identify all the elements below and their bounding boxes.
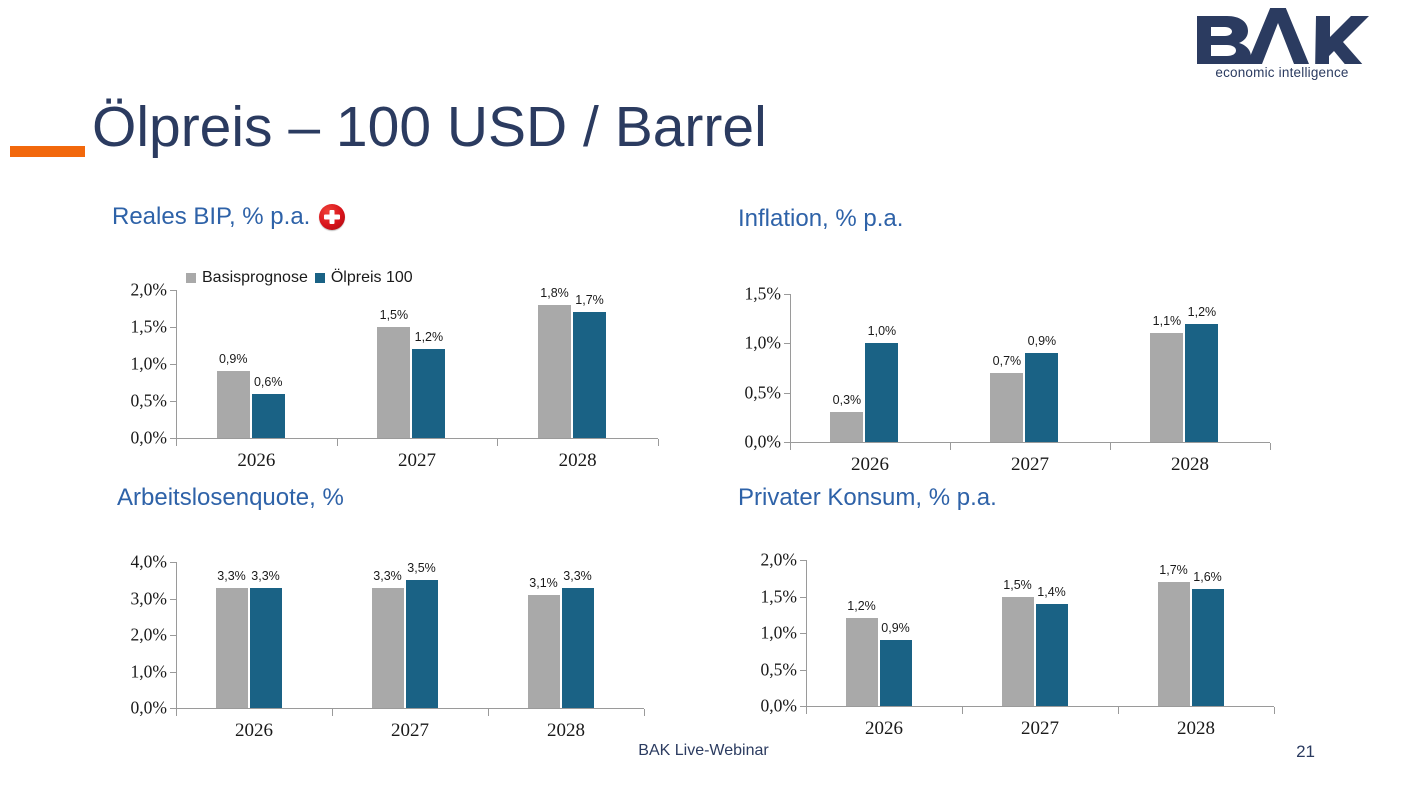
x-axis-category-label: 2028 (1171, 454, 1209, 476)
y-axis-tick (170, 401, 176, 402)
bar-value-label: 3,3% (373, 569, 402, 583)
bar-value-label: 0,9% (1028, 334, 1057, 348)
bar-inflation-2027-basisprognose (990, 373, 1023, 442)
bar-inflation-2028-basisprognose (1150, 333, 1183, 442)
x-axis-category-separator (644, 709, 645, 716)
y-axis-line (806, 560, 807, 706)
y-axis-tick (170, 562, 176, 563)
y-axis-tick-label: 0,5% (745, 382, 781, 403)
y-axis-tick-label: 3,0% (131, 588, 167, 609)
bar-value-label: 0,9% (881, 621, 910, 635)
y-axis-tick (784, 294, 790, 295)
y-axis-line (790, 294, 791, 442)
bar-value-label: 1,2% (847, 599, 876, 613)
bar-value-label: 1,2% (415, 330, 444, 344)
y-axis-tick (800, 560, 806, 561)
y-axis-tick (800, 597, 806, 598)
x-axis-category-separator (962, 707, 963, 714)
y-axis-tick (170, 364, 176, 365)
bar-consumption-2028-oelpreis100 (1192, 589, 1224, 706)
title-accent-dash (10, 146, 85, 157)
y-axis-tick-label: 2,0% (131, 625, 167, 646)
panel-heading-unemployment-label: Arbeitslosenquote, % (117, 484, 344, 512)
bar-gdp-2027-oelpreis100 (412, 349, 445, 438)
x-axis-category-label: 2026 (865, 718, 903, 740)
bar-value-label: 3,3% (563, 569, 592, 583)
legend-swatch-oelpreis100 (315, 273, 325, 283)
chart-legend: BasisprognoseÖlpreis 100 (186, 269, 413, 287)
x-axis-category-separator (332, 709, 333, 716)
legend-item-oelpreis100: Ölpreis 100 (315, 269, 413, 287)
x-axis-category-label: 2028 (547, 720, 585, 742)
y-axis-tick-label: 2,0% (761, 550, 797, 571)
y-axis-tick (170, 599, 176, 600)
bar-value-label: 3,5% (407, 561, 436, 575)
y-axis-tick (170, 327, 176, 328)
x-axis-category-label: 2027 (391, 720, 429, 742)
bar-value-label: 1,1% (1153, 314, 1182, 328)
y-axis-tick-label: 0,0% (131, 698, 167, 719)
x-axis-line (176, 708, 644, 709)
y-axis-tick-label: 0,0% (745, 432, 781, 453)
panel-heading-gdp-label: Reales BIP, % p.a. (112, 203, 310, 231)
bar-consumption-2028-basisprognose (1158, 582, 1190, 706)
y-axis-tick (800, 633, 806, 634)
bar-value-label: 0,9% (219, 352, 248, 366)
x-axis-category-separator (1270, 443, 1271, 450)
y-axis-tick (170, 672, 176, 673)
panel-heading-inflation-label: Inflation, % p.a. (738, 205, 903, 233)
bar-inflation-2026-basisprognose (830, 412, 863, 442)
bar-value-label: 1,2% (1188, 305, 1217, 319)
x-axis-category-separator (176, 439, 177, 446)
x-axis-category-separator (658, 439, 659, 446)
y-axis-tick-label: 0,0% (131, 428, 167, 449)
bar-consumption-2026-oelpreis100 (880, 640, 912, 706)
bar-value-label: 1,7% (575, 293, 604, 307)
y-axis-tick-label: 4,0% (131, 552, 167, 573)
y-axis-tick (784, 393, 790, 394)
y-axis-tick (784, 343, 790, 344)
x-axis-category-separator (1110, 443, 1111, 450)
x-axis-category-separator (488, 709, 489, 716)
bak-wordmark-icon (1193, 8, 1371, 64)
chart-reales-bip: 0,0%0,5%1,0%1,5%2,0%0,9%0,6%20261,5%1,2%… (176, 290, 658, 438)
x-axis-category-separator (806, 707, 807, 714)
page-title: Ölpreis – 100 USD / Barrel (92, 98, 767, 158)
x-axis-category-separator (497, 439, 498, 446)
x-axis-category-label: 2026 (237, 450, 275, 472)
bar-value-label: 1,5% (1003, 578, 1032, 592)
bar-value-label: 3,1% (529, 576, 558, 590)
x-axis-line (790, 442, 1270, 443)
bar-value-label: 1,4% (1037, 585, 1066, 599)
bar-unemployment-2028-basisprognose (528, 595, 560, 708)
y-axis-tick (170, 290, 176, 291)
bar-value-label: 1,5% (380, 308, 409, 322)
legend-label-basisprognose: Basisprognose (202, 269, 308, 287)
bar-value-label: 1,6% (1193, 570, 1222, 584)
y-axis-tick-label: 1,5% (761, 586, 797, 607)
y-axis-tick-label: 1,0% (131, 354, 167, 375)
bar-value-label: 0,3% (833, 393, 862, 407)
x-axis-category-label: 2028 (1177, 718, 1215, 740)
bar-value-label: 3,3% (251, 569, 280, 583)
bar-value-label: 0,7% (993, 354, 1022, 368)
y-axis-tick-label: 0,5% (131, 391, 167, 412)
panel-heading-inflation: Inflation, % p.a. (738, 205, 903, 233)
x-axis-category-separator (950, 443, 951, 450)
chart-privater-konsum: 0,0%0,5%1,0%1,5%2,0%1,2%0,9%20261,5%1,4%… (806, 560, 1274, 706)
y-axis-tick-label: 1,5% (745, 284, 781, 305)
legend-swatch-basisprognose (186, 273, 196, 283)
y-axis-tick (170, 635, 176, 636)
bak-logo: economic intelligence (1193, 8, 1371, 80)
bar-gdp-2028-oelpreis100 (573, 312, 606, 438)
x-axis-category-separator (176, 709, 177, 716)
bar-value-label: 0,6% (254, 375, 283, 389)
bar-inflation-2027-oelpreis100 (1025, 353, 1058, 442)
x-axis-category-separator (337, 439, 338, 446)
bar-consumption-2027-basisprognose (1002, 597, 1034, 707)
bar-unemployment-2027-basisprognose (372, 588, 404, 708)
bar-consumption-2027-oelpreis100 (1036, 604, 1068, 706)
x-axis-category-label: 2027 (398, 450, 436, 472)
x-axis-category-label: 2027 (1021, 718, 1059, 740)
x-axis-category-separator (1118, 707, 1119, 714)
bar-unemployment-2028-oelpreis100 (562, 588, 594, 708)
bar-unemployment-2027-oelpreis100 (406, 580, 438, 708)
x-axis-category-label: 2028 (559, 450, 597, 472)
x-axis-category-label: 2027 (1011, 454, 1049, 476)
x-axis-category-label: 2026 (851, 454, 889, 476)
bar-value-label: 3,3% (217, 569, 246, 583)
bar-gdp-2027-basisprognose (377, 327, 410, 438)
y-axis-tick-label: 0,0% (761, 696, 797, 717)
swiss-flag-icon (319, 204, 345, 230)
bar-consumption-2026-basisprognose (846, 618, 878, 706)
x-axis-category-separator (790, 443, 791, 450)
y-axis-tick (800, 670, 806, 671)
panel-heading-gdp: Reales BIP, % p.a. (112, 203, 345, 231)
x-axis-line (806, 706, 1274, 707)
bar-inflation-2028-oelpreis100 (1185, 324, 1218, 442)
y-axis-line (176, 290, 177, 438)
footer-text: BAK Live-Webinar (0, 742, 1407, 760)
bar-value-label: 1,8% (540, 286, 569, 300)
y-axis-tick-label: 1,0% (761, 623, 797, 644)
y-axis-tick-label: 0,5% (761, 659, 797, 680)
bar-value-label: 1,7% (1159, 563, 1188, 577)
bar-unemployment-2026-basisprognose (216, 588, 248, 708)
x-axis-line (176, 438, 658, 439)
bar-gdp-2026-basisprognose (217, 371, 250, 438)
y-axis-tick-label: 1,0% (745, 333, 781, 354)
y-axis-line (176, 562, 177, 708)
chart-arbeitslosenquote: 0,0%1,0%2,0%3,0%4,0%3,3%3,3%20263,3%3,5%… (176, 562, 644, 708)
bar-inflation-2026-oelpreis100 (865, 343, 898, 442)
x-axis-category-label: 2026 (235, 720, 273, 742)
page-number: 21 (1296, 742, 1315, 762)
panel-heading-unemployment: Arbeitslosenquote, % (117, 484, 344, 512)
bar-value-label: 1,0% (868, 324, 897, 338)
x-axis-category-separator (1274, 707, 1275, 714)
bar-gdp-2026-oelpreis100 (252, 394, 285, 438)
bar-gdp-2028-basisprognose (538, 305, 571, 438)
panel-heading-consumption: Privater Konsum, % p.a. (738, 484, 997, 512)
logo-tagline: economic intelligence (1193, 65, 1371, 80)
y-axis-tick-label: 2,0% (131, 280, 167, 301)
y-axis-tick-label: 1,0% (131, 661, 167, 682)
bar-unemployment-2026-oelpreis100 (250, 588, 282, 708)
y-axis-tick-label: 1,5% (131, 317, 167, 338)
panel-heading-consumption-label: Privater Konsum, % p.a. (738, 484, 997, 512)
chart-inflation: 0,0%0,5%1,0%1,5%0,3%1,0%20260,7%0,9%2027… (790, 294, 1270, 442)
legend-label-oelpreis100: Ölpreis 100 (331, 269, 413, 287)
legend-item-basisprognose: Basisprognose (186, 269, 308, 287)
